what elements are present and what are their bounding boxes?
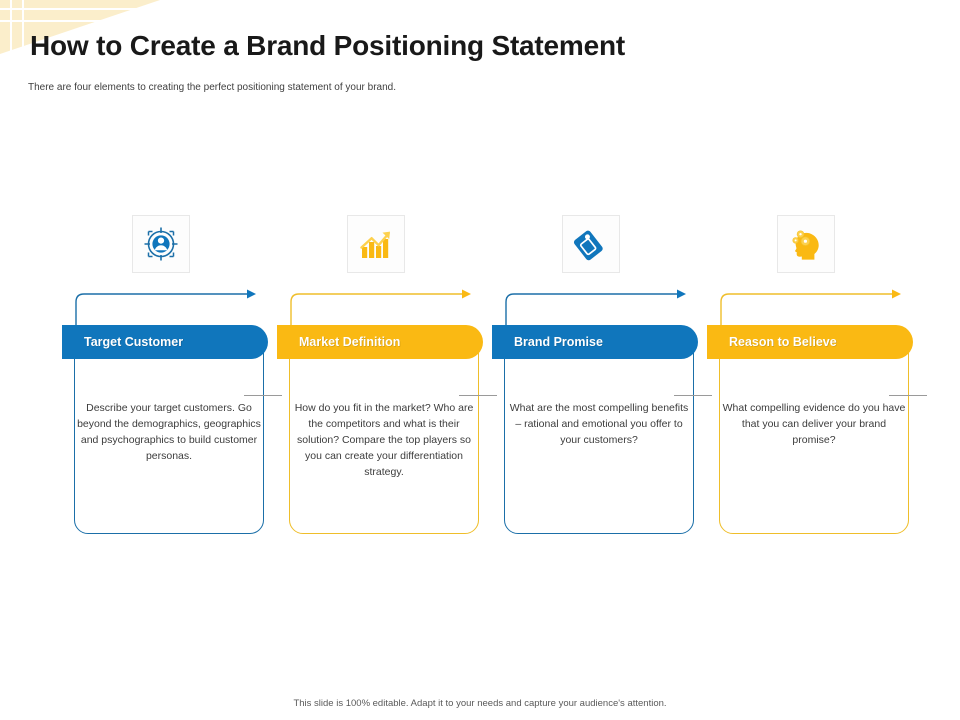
step-column-3: Brand Promise What are the most compelli… xyxy=(492,0,707,720)
price-tag-icon xyxy=(562,215,620,273)
head-gears-icon xyxy=(777,215,835,273)
target-audience-icon xyxy=(132,215,190,273)
step-pill-3[interactable]: Brand Promise xyxy=(492,325,698,359)
footer-note: This slide is 100% editable. Adapt it to… xyxy=(0,698,960,709)
step-pill-1[interactable]: Target Customer xyxy=(62,325,268,359)
step-column-1: Target Customer Describe your target cus… xyxy=(62,0,277,720)
corner-line-v2 xyxy=(22,0,24,54)
step-label-2: Market Definition xyxy=(299,335,400,349)
step-body-1: Describe your target customers. Go beyon… xyxy=(76,400,262,464)
step-label-3: Brand Promise xyxy=(514,335,603,349)
slide-canvas: How to Create a Brand Positioning Statem… xyxy=(0,0,960,720)
step-label-4: Reason to Believe xyxy=(729,335,837,349)
step-tick-4 xyxy=(889,395,927,396)
step-column-4: Reason to Believe What compelling eviden… xyxy=(707,0,922,720)
step-label-1: Target Customer xyxy=(84,335,183,349)
corner-line-v1 xyxy=(10,0,12,54)
step-body-2: How do you fit in the market? Who are th… xyxy=(291,400,477,480)
step-pill-4[interactable]: Reason to Believe xyxy=(707,325,913,359)
step-pill-2[interactable]: Market Definition xyxy=(277,325,483,359)
step-body-3: What are the most compelling benefits – … xyxy=(506,400,692,448)
step-column-2: Market Definition How do you fit in the … xyxy=(277,0,492,720)
bar-chart-growth-icon xyxy=(347,215,405,273)
step-body-4: What compelling evidence do you have tha… xyxy=(721,400,907,448)
